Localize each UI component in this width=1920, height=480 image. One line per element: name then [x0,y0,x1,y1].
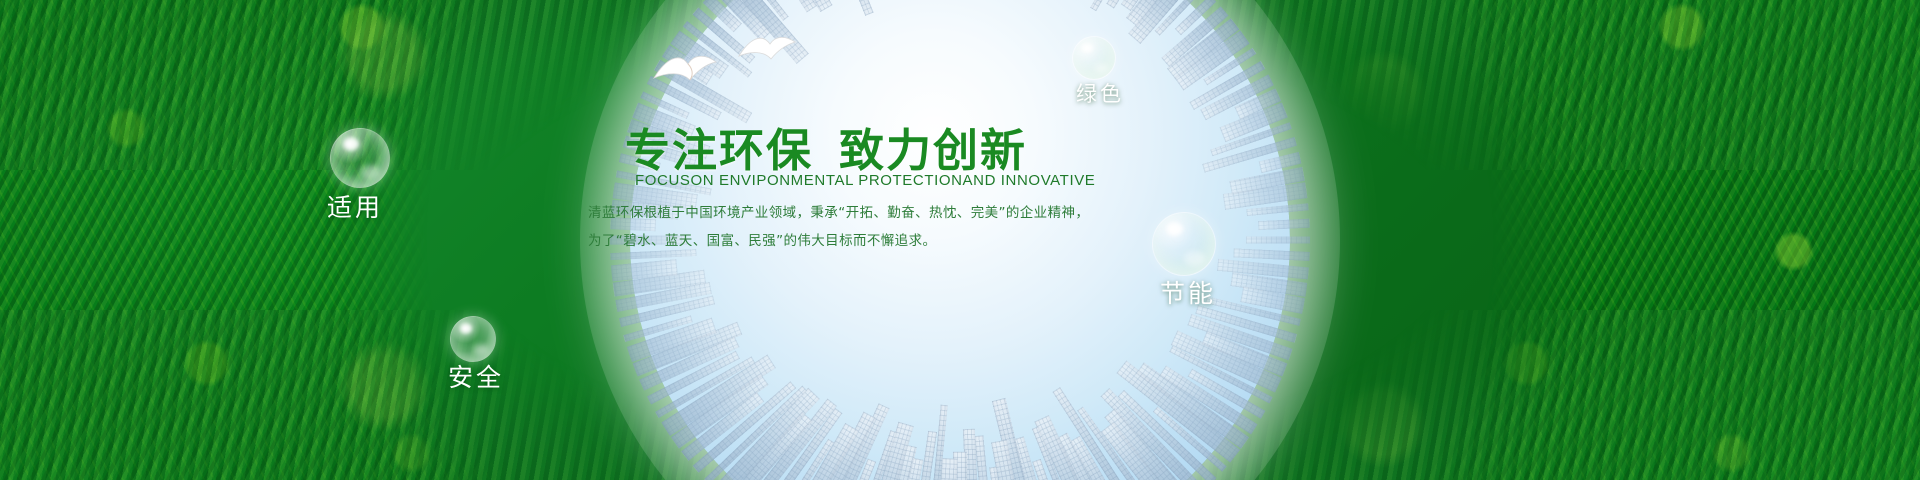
bubble-shiyong [330,128,390,188]
building [1258,219,1310,231]
feature-label-anquan: 安全 [448,358,504,394]
building [825,0,874,16]
body-copy: 清蓝环保根植于中国环境产业领域，秉承“开拓、勤奋、热忱、完美”的企业精神， 为了… [588,200,1108,255]
feature-label-lvse: 绿色 [1076,78,1124,108]
body-line-2: 为了“碧水、蓝天、国富、民强”的伟大目标而不懈追求。 [588,228,1108,256]
feature-label-shiyong: 适用 [327,188,383,224]
headline-right: 致力创新 [839,124,1027,177]
vegetation-left [0,0,610,480]
headline-left: 专注环保 [625,124,813,177]
hero-banner: 适用 安全 绿色 节能 专注环保致力创新 FOCUSON ENVIPONMENT… [0,0,1920,480]
building [1246,237,1310,244]
bubble-lvse [1072,36,1116,80]
bubble-jieneng [1152,212,1216,276]
subtitle-english: FOCUSON ENVIPONMENTAL PROTECTIONAND INNO… [635,172,1095,189]
feature-label-jieneng: 节能 [1160,274,1216,310]
page-title: 专注环保致力创新 [625,128,1027,173]
bubble-anquan [450,316,496,362]
vegetation-right [1310,0,1920,480]
body-line-1: 清蓝环保根植于中国环境产业领域，秉承“开拓、勤奋、热忱、完美”的企业精神， [588,200,1108,228]
building [1233,248,1310,261]
